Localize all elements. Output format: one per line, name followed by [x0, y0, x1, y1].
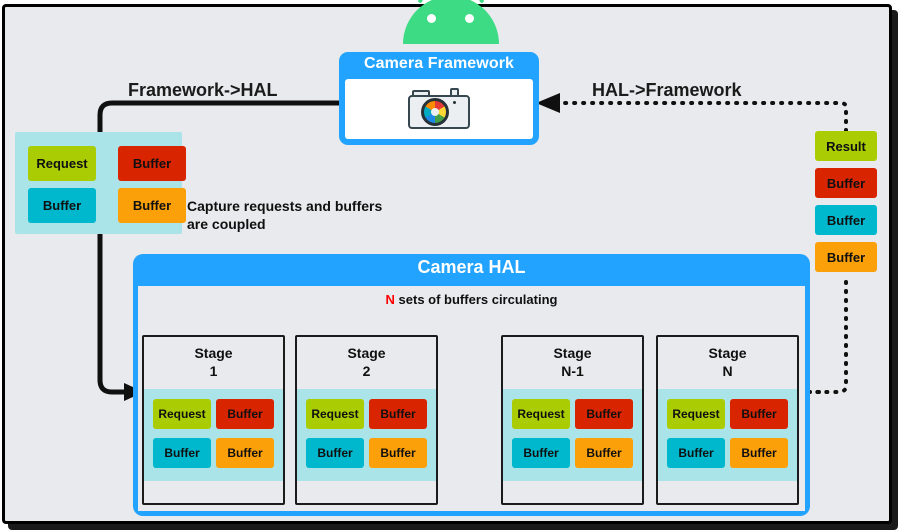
camera-shutter-button-icon: [450, 88, 459, 97]
camera-framework-title: Camera Framework: [339, 55, 539, 73]
stage-title: Stage: [194, 345, 232, 361]
label-framework-to-hal: Framework->HAL: [128, 80, 278, 101]
diagram-canvas: ••• Camera Framework Framework->HAL HAL-…: [0, 0, 900, 531]
stage-buffer-set: Request Buffer Buffer Buffer: [144, 389, 283, 481]
chip-buffer: Buffer: [216, 438, 274, 468]
chip-buffer: Buffer: [667, 438, 725, 468]
chip-buffer: Buffer: [369, 438, 427, 468]
chip-buffer: Buffer: [730, 399, 788, 429]
stage-index: N: [722, 363, 732, 379]
chip-buffer: Buffer: [815, 242, 877, 272]
android-head-icon: [403, 0, 499, 44]
chip-request: Request: [153, 399, 211, 429]
stage-label: StageN-1: [503, 345, 642, 380]
stage-box[interactable]: StageN Request Buffer Buffer Buffer: [656, 335, 799, 505]
stage-index: N-1: [561, 363, 584, 379]
stage-buffer-set: Request Buffer Buffer Buffer: [297, 389, 436, 481]
chip-buffer: Buffer: [153, 438, 211, 468]
coupled-caption: Capture requests and buffers are coupled: [187, 198, 397, 234]
chip-buffer: Buffer: [512, 438, 570, 468]
stage-label: Stage1: [144, 345, 283, 380]
chip-buffer: Buffer: [815, 168, 877, 198]
chip-buffer: Buffer: [118, 146, 186, 181]
camera-hal-title: Camera HAL: [133, 257, 810, 278]
chip-buffer: Buffer: [730, 438, 788, 468]
camera-led-icon: [453, 101, 456, 104]
hal-result-set: Result Buffer Buffer Buffer: [815, 131, 877, 279]
stage-title: Stage: [708, 345, 746, 361]
camera-framework-card[interactable]: Camera Framework: [339, 52, 539, 145]
chip-buffer: Buffer: [306, 438, 364, 468]
stage-label: Stage2: [297, 345, 436, 380]
stage-label: StageN: [658, 345, 797, 380]
android-eye-left-icon: [427, 14, 436, 23]
chip-buffer: Buffer: [28, 188, 96, 223]
chip-request: Request: [667, 399, 725, 429]
stage-box[interactable]: Stage2 Request Buffer Buffer Buffer: [295, 335, 438, 505]
chip-result: Result: [815, 131, 877, 161]
stage-title: Stage: [347, 345, 385, 361]
camera-lens-icon: [421, 98, 449, 126]
chip-request: Request: [512, 399, 570, 429]
chip-buffer: Buffer: [815, 205, 877, 235]
stage-box[interactable]: StageN-1 Request Buffer Buffer Buffer: [501, 335, 644, 505]
chip-buffer: Buffer: [575, 438, 633, 468]
stage-buffer-set: Request Buffer Buffer Buffer: [503, 389, 642, 481]
android-eye-right-icon: [465, 14, 474, 23]
stage-buffer-set: Request Buffer Buffer Buffer: [658, 389, 797, 481]
chip-buffer: Buffer: [118, 188, 186, 223]
hal-note-rest: sets of buffers circulating: [395, 292, 558, 307]
stage-index: 2: [363, 363, 371, 379]
label-hal-to-framework: HAL->Framework: [592, 80, 742, 101]
stage-box[interactable]: Stage1 Request Buffer Buffer Buffer: [142, 335, 285, 505]
chip-request: Request: [306, 399, 364, 429]
chip-request: Request: [28, 146, 96, 181]
stage-title: Stage: [553, 345, 591, 361]
android-robot-icon: [403, 0, 499, 48]
camera-framework-body: [345, 79, 533, 139]
framework-buffer-set: Request Buffer Buffer Buffer: [15, 132, 182, 234]
chip-buffer: Buffer: [369, 399, 427, 429]
chip-buffer: Buffer: [575, 399, 633, 429]
hal-circulating-note: N sets of buffers circulating: [133, 292, 810, 309]
chip-buffer: Buffer: [216, 399, 274, 429]
camera-icon: [408, 87, 470, 131]
hal-note-n: N: [386, 292, 395, 307]
stage-index: 1: [210, 363, 218, 379]
